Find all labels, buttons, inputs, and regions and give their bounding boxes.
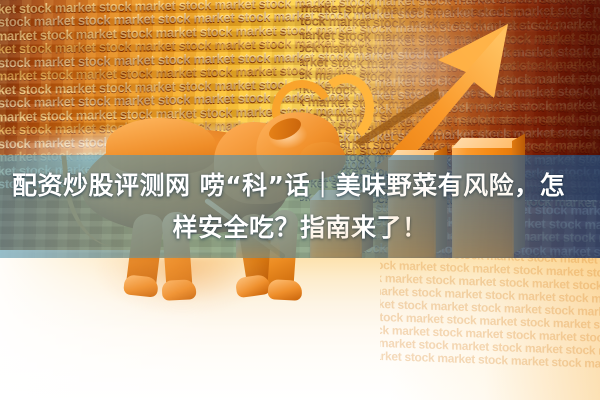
bar-reflection: [388, 132, 436, 258]
bar-reflection: [310, 182, 362, 258]
floor-ticker-texture: stock market stock market stock market s…: [380, 246, 600, 374]
bar-reflection: [452, 117, 514, 258]
bar-reflection: [236, 232, 280, 258]
bull-reflection: [72, 258, 302, 376]
banner-image: stock market stock market stock market s…: [0, 0, 600, 400]
